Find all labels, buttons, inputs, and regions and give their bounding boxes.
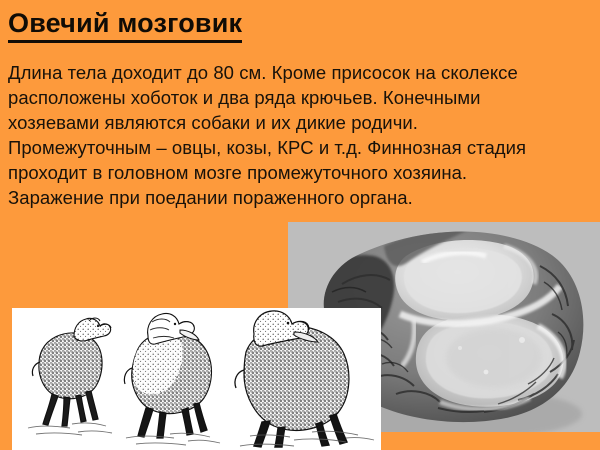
cyst-speck-1: [519, 337, 525, 343]
sheep-3-eye: [287, 322, 290, 325]
body-line-2: расположены хоботок и два ряда крючьев. …: [8, 85, 594, 110]
body-line-5: проходит в головном мозге промежуточного…: [8, 160, 594, 185]
page-title-text: Овечий мозговик: [8, 8, 242, 43]
cyst-lower-fluid: [446, 328, 542, 388]
body-line-4: Промежуточным – овцы, козы, КРС и т.д. Ф…: [8, 135, 594, 160]
sheep-1-eye: [97, 325, 99, 327]
page-title: Овечий мозговик: [8, 8, 408, 43]
body-line-6: Заражение при поедании пораженного орган…: [8, 185, 594, 210]
cyst-speck-3: [458, 346, 462, 350]
sheep-2-eye: [174, 323, 176, 325]
body-line-1: Длина тела доходит до 80 см. Кроме присо…: [8, 60, 594, 85]
body-paragraph: Длина тела доходит до 80 см. Кроме присо…: [8, 60, 594, 210]
three-sheep-line-drawing: [12, 308, 381, 450]
slide-canvas: Овечий мозговик Длина тела доходит до 80…: [0, 0, 600, 450]
cyst-speck-2: [484, 370, 489, 375]
body-line-3: хозяевами являются собаки и их дикие род…: [8, 110, 594, 135]
sheep-illustration-panel: Штриховой рисунок трёх овец: [12, 308, 381, 450]
sheep-1-body: [39, 333, 102, 399]
